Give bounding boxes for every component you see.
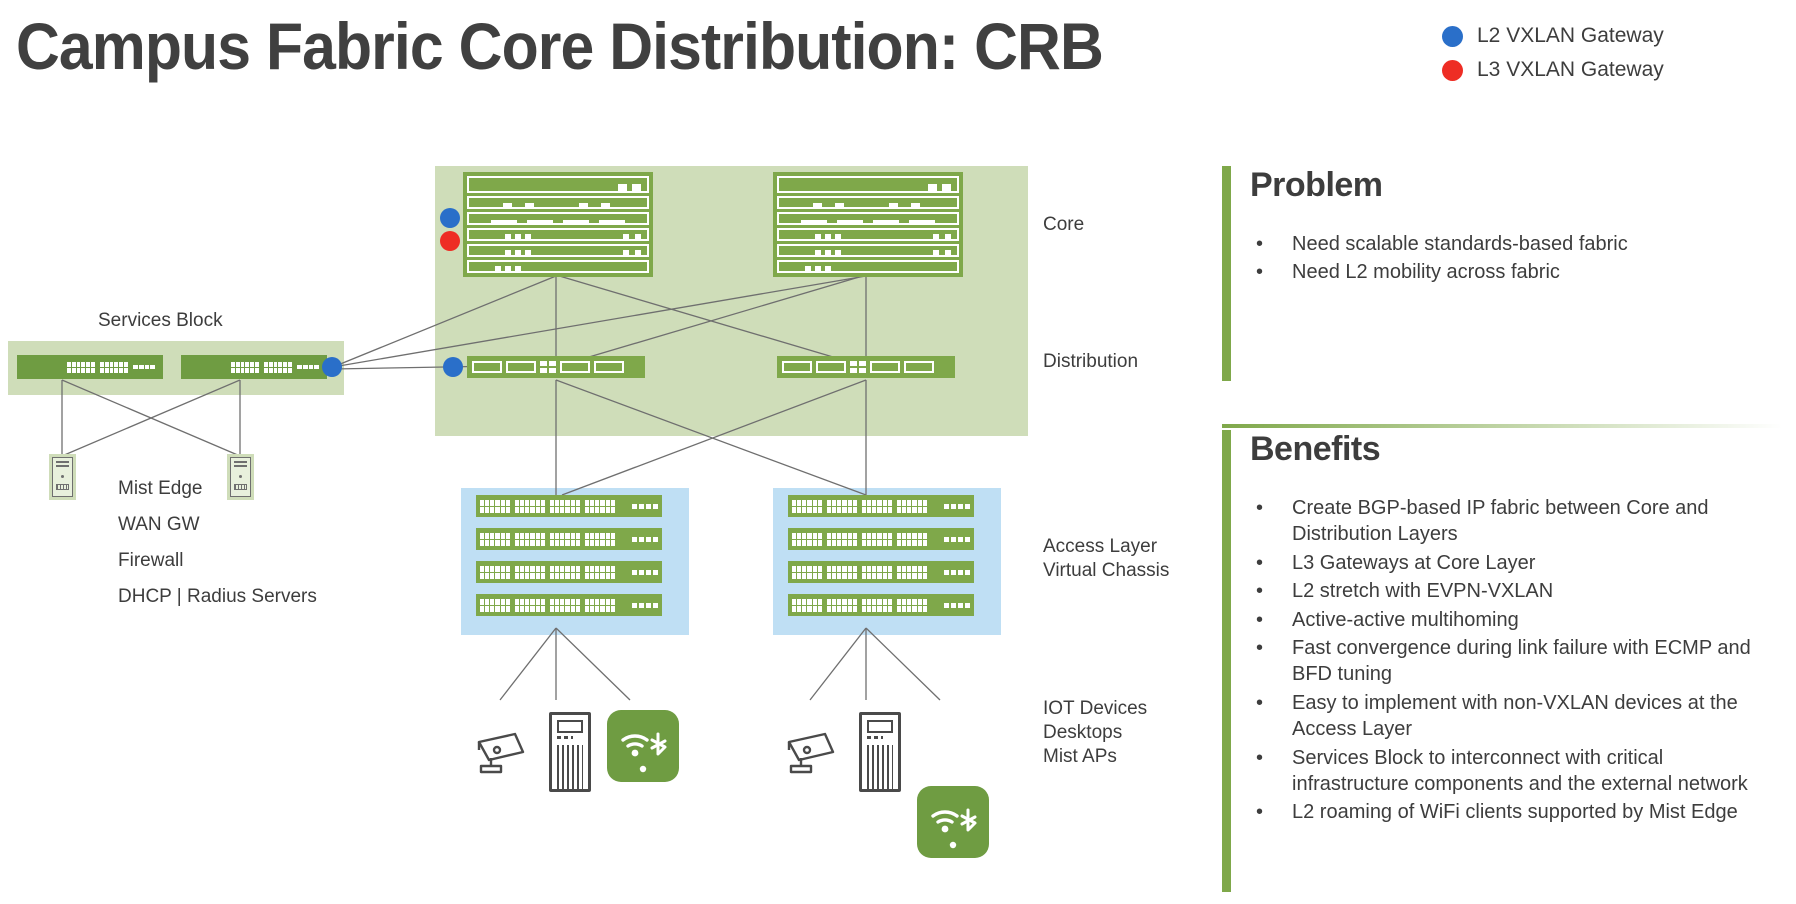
port-bank xyxy=(862,533,892,546)
uplink-group xyxy=(632,570,658,575)
port-bank xyxy=(585,533,615,546)
uplink-group xyxy=(944,537,970,542)
access-switch[interactable] xyxy=(476,594,662,616)
uplink-group xyxy=(632,537,658,542)
services-text-item: WAN GW xyxy=(118,514,317,536)
distribution-switch-left[interactable] xyxy=(467,356,645,378)
port-bank xyxy=(585,566,615,579)
panel-accent-bar xyxy=(1222,166,1231,381)
chassis-slot xyxy=(777,176,959,193)
legend-item-label: L3 VXLAN Gateway xyxy=(1477,58,1664,82)
list-item: Services Block to interconnect with crit… xyxy=(1250,745,1782,798)
camera-icon xyxy=(785,728,845,781)
port-bank xyxy=(67,362,95,373)
access-switch[interactable] xyxy=(476,561,662,583)
l2-gateway-marker-core xyxy=(440,208,460,228)
uplink-group xyxy=(632,603,658,608)
port-bank xyxy=(792,500,822,513)
chassis-slot xyxy=(777,244,959,257)
chassis-slot xyxy=(777,196,959,209)
uplink-group xyxy=(133,365,155,369)
port-bank xyxy=(515,500,545,513)
chassis-slot xyxy=(777,260,959,273)
camera-icon xyxy=(475,728,535,781)
benefits-bullet-list: Create BGP-based IP fabric between Core … xyxy=(1222,495,1782,826)
port-group xyxy=(782,361,812,373)
access-switch[interactable] xyxy=(788,594,974,616)
layer-label-endpoints-line1: IOT Devices xyxy=(1043,697,1147,721)
services-text-item: DHCP | Radius Servers xyxy=(118,586,317,608)
desktop-vents xyxy=(867,745,893,791)
benefits-heading: Benefits xyxy=(1222,430,1782,469)
access-switch[interactable] xyxy=(788,495,974,517)
desktop-screen xyxy=(557,720,583,733)
problem-heading: Problem xyxy=(1222,166,1782,205)
port-group xyxy=(904,361,934,373)
chassis-slot xyxy=(467,176,649,193)
desktop-icon xyxy=(859,712,901,792)
layer-label-endpoints: IOT Devices Desktops Mist APs xyxy=(1043,697,1147,768)
port-bank xyxy=(585,599,615,612)
problem-bullet-list: Need scalable standards-based fabric Nee… xyxy=(1222,231,1782,286)
port-bank xyxy=(897,566,927,579)
list-item: Create BGP-based IP fabric between Core … xyxy=(1250,495,1782,548)
port-bank xyxy=(827,533,857,546)
blue-circle-icon xyxy=(1442,26,1463,47)
legend-item-l2: L2 VXLAN Gateway xyxy=(1442,24,1664,48)
port-group xyxy=(560,361,590,373)
port-group xyxy=(870,361,900,373)
problem-panel: Problem Need scalable standards-based fa… xyxy=(1222,166,1782,381)
access-switch[interactable] xyxy=(476,495,662,517)
port-bank xyxy=(231,362,259,373)
access-switch[interactable] xyxy=(476,528,662,550)
layer-label-endpoints-line2: Desktops xyxy=(1043,721,1147,745)
port-bank xyxy=(862,599,892,612)
desktop-icon xyxy=(549,712,591,792)
port-bank xyxy=(264,362,292,373)
chassis-slot xyxy=(777,212,959,225)
port-bank xyxy=(827,500,857,513)
port-bank xyxy=(100,362,128,373)
list-item: Need scalable standards-based fabric xyxy=(1250,231,1782,257)
wifi-ap-icon xyxy=(917,786,989,858)
port-bank xyxy=(550,566,580,579)
sfp-group xyxy=(540,361,556,373)
port-bank xyxy=(897,533,927,546)
port-group xyxy=(472,361,502,373)
port-bank xyxy=(480,533,510,546)
list-item: Need L2 mobility across fabric xyxy=(1250,259,1782,285)
list-item: L2 stretch with EVPN-VXLAN xyxy=(1250,578,1782,604)
panel-divider xyxy=(1222,424,1782,428)
port-bank xyxy=(515,599,545,612)
port-bank xyxy=(792,599,822,612)
uplink-group xyxy=(944,603,970,608)
chassis-slot xyxy=(777,228,959,241)
port-bank xyxy=(862,500,892,513)
chassis-slot xyxy=(467,196,649,209)
services-text-item: Firewall xyxy=(118,550,317,572)
services-appliance-left[interactable] xyxy=(49,454,76,500)
uplink-group xyxy=(297,365,319,369)
port-bank xyxy=(515,533,545,546)
list-item: Fast convergence during link failure wit… xyxy=(1250,635,1782,688)
chassis-slot xyxy=(467,212,649,225)
access-switch[interactable] xyxy=(788,528,974,550)
port-bank xyxy=(515,566,545,579)
port-bank xyxy=(585,500,615,513)
legend: L2 VXLAN Gateway L3 VXLAN Gateway xyxy=(1442,24,1664,82)
port-bank xyxy=(792,566,822,579)
benefits-panel: Benefits Create BGP-based IP fabric betw… xyxy=(1222,430,1782,892)
network-diagram: Services Block Mist Edge WAN GW Firewall… xyxy=(0,0,1180,904)
chassis-slot xyxy=(467,260,649,273)
port-group xyxy=(506,361,536,373)
desktop-vents xyxy=(557,745,583,791)
layer-label-access: Access Layer Virtual Chassis xyxy=(1043,535,1169,583)
services-block-label: Services Block xyxy=(98,310,223,332)
legend-item-label: L2 VXLAN Gateway xyxy=(1477,24,1664,48)
l2-gateway-marker-services xyxy=(322,357,342,377)
port-bank xyxy=(862,566,892,579)
chassis-slot xyxy=(467,244,649,257)
core-switch-left[interactable] xyxy=(463,172,653,277)
port-group xyxy=(816,361,846,373)
uplink-group xyxy=(944,504,970,509)
port-group xyxy=(594,361,624,373)
port-bank xyxy=(550,599,580,612)
wifi-ap-icon xyxy=(607,710,679,782)
panel-accent-bar xyxy=(1222,430,1231,892)
port-bank xyxy=(827,599,857,612)
uplink-group xyxy=(944,570,970,575)
port-bank xyxy=(550,500,580,513)
port-bank xyxy=(827,566,857,579)
l2-gateway-marker-distribution xyxy=(443,357,463,377)
list-item: Easy to implement with non-VXLAN devices… xyxy=(1250,690,1782,743)
port-bank xyxy=(550,533,580,546)
layer-label-access-line1: Access Layer xyxy=(1043,535,1169,559)
desktop-indicators xyxy=(867,736,883,739)
layer-label-distribution: Distribution xyxy=(1043,350,1138,374)
list-item: Active-active multihoming xyxy=(1250,607,1782,633)
desktop-screen xyxy=(867,720,893,733)
list-item: L3 Gateways at Core Layer xyxy=(1250,550,1782,576)
chassis-slot xyxy=(467,228,649,241)
port-bank xyxy=(792,533,822,546)
legend-item-l3: L3 VXLAN Gateway xyxy=(1442,58,1664,82)
layer-label-endpoints-line3: Mist APs xyxy=(1043,745,1147,769)
port-bank xyxy=(480,566,510,579)
services-text-item: Mist Edge xyxy=(118,478,317,500)
list-item: L2 roaming of WiFi clients supported by … xyxy=(1250,799,1782,825)
desktop-indicators xyxy=(557,736,573,739)
layer-label-core: Core xyxy=(1043,213,1084,237)
layer-label-access-line2: Virtual Chassis xyxy=(1043,559,1169,583)
services-switch-left[interactable] xyxy=(17,355,163,379)
services-text-list: Mist Edge WAN GW Firewall DHCP | Radius … xyxy=(118,478,317,608)
appliance-body xyxy=(52,457,73,497)
port-bank xyxy=(897,500,927,513)
services-switch-right[interactable] xyxy=(181,355,327,379)
distribution-switch-right[interactable] xyxy=(777,356,955,378)
l3-gateway-marker-core xyxy=(440,231,460,251)
uplink-group xyxy=(632,504,658,509)
port-bank xyxy=(480,599,510,612)
red-circle-icon xyxy=(1442,60,1463,81)
port-bank xyxy=(897,599,927,612)
core-switch-right[interactable] xyxy=(773,172,963,277)
access-switch[interactable] xyxy=(788,561,974,583)
port-bank xyxy=(480,500,510,513)
sfp-group xyxy=(850,361,866,373)
